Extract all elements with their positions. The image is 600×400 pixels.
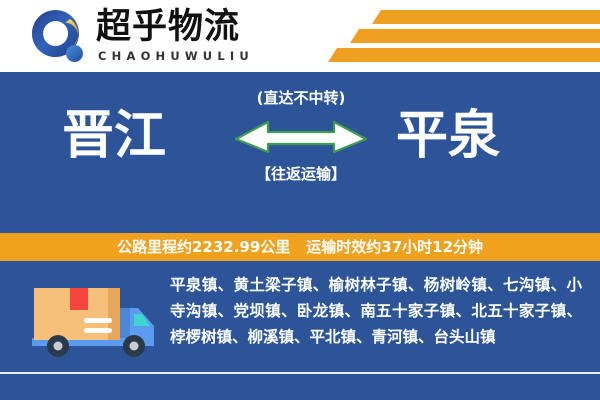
coverage-section: 平泉镇、黄土梁子镇、榆树林子镇、杨树岭镇、七沟镇、小寺沟镇、党坝镇、卧龙镇、南五… xyxy=(0,264,600,400)
stripe-2 xyxy=(350,29,600,43)
duration-text: 运输时效约37小时12分钟 xyxy=(306,237,483,257)
header: 超乎物流 CHAOHUWULIU xyxy=(0,0,600,72)
info-bar: 公路里程约2232.99公里 运输时效约37小时12分钟 xyxy=(0,230,600,264)
circular-q-logo-icon xyxy=(30,8,90,66)
brand-logo xyxy=(30,8,90,66)
direct-service-note: (直达不中转) xyxy=(226,88,376,108)
stripe-3 xyxy=(328,48,600,62)
stripe-1 xyxy=(372,10,600,24)
decorative-stripes xyxy=(300,10,600,66)
covered-towns-list: 平泉镇、黄土梁子镇、榆树林子镇、杨树岭镇、七沟镇、小寺沟镇、党坝镇、卧龙镇、南五… xyxy=(170,272,582,350)
round-trip-note: 【往返运输】 xyxy=(226,164,376,184)
delivery-truck-icon xyxy=(22,282,162,362)
destination-city: 平泉 xyxy=(396,106,500,166)
truck-illustration xyxy=(22,282,162,362)
arrow-container xyxy=(226,116,376,158)
footer-divider xyxy=(0,372,600,374)
double-headed-arrow-icon xyxy=(234,116,368,156)
brand-text: 超乎物流 CHAOHUWULIU xyxy=(96,7,296,67)
brand-name-cn: 超乎物流 xyxy=(96,7,296,47)
brand-name-en: CHAOHUWULIU xyxy=(98,49,296,63)
route-middle: (直达不中转) 【往返运输】 xyxy=(226,88,376,220)
route-section: 晋江 (直达不中转) 【往返运输】 平泉 xyxy=(0,72,600,230)
origin-city: 晋江 xyxy=(62,106,166,166)
distance-text: 公路里程约2232.99公里 xyxy=(117,237,290,257)
logistics-route-banner: 超乎物流 CHAOHUWULIU 晋江 (直达不中转) 【往返运输】 平泉 公路… xyxy=(0,0,600,400)
